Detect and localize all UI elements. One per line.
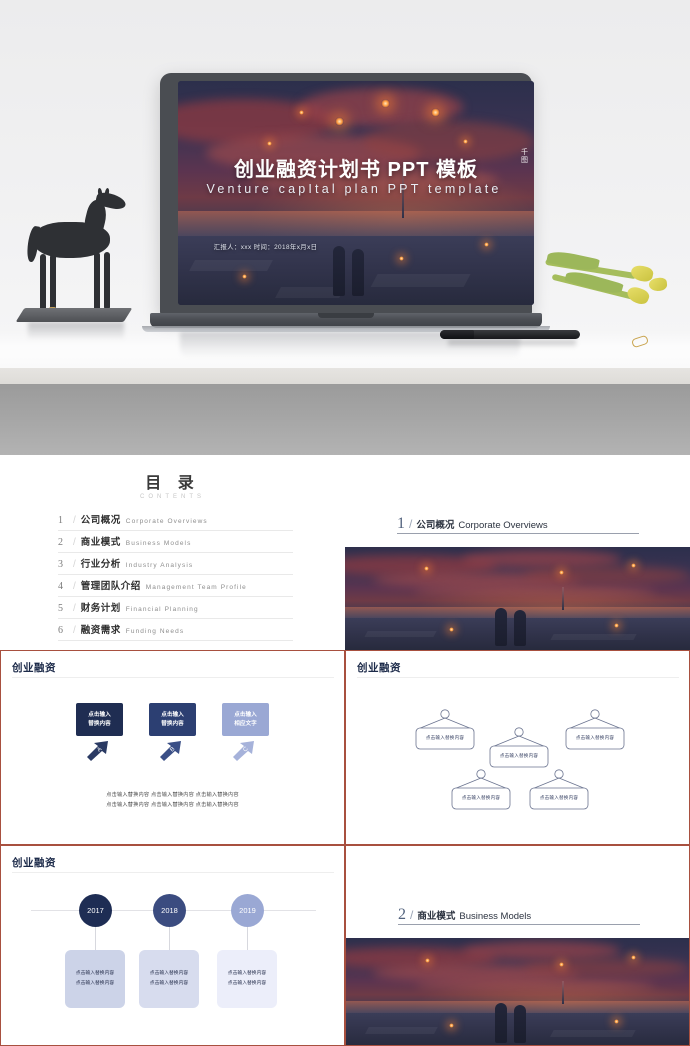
section-label: 2 / 商业模式 Business Models — [398, 906, 531, 924]
contents-item-number: 5 — [58, 603, 68, 614]
boxes-row: 点击输入 替换内容 A — [1, 703, 344, 761]
contents-item-label-en: Funding Needs — [126, 628, 184, 635]
hanging-sign-icon — [482, 727, 556, 771]
tulip-bud — [648, 277, 667, 292]
contents-item[interactable]: 3 / 行业分析 Industry Analysis — [58, 553, 293, 575]
hanging-sign[interactable]: 点击输入替换内容 — [558, 709, 632, 753]
timeline-card[interactable]: 点击输入替换内容 点击输入替换内容 — [65, 950, 125, 1008]
slash-separator-icon: / — [73, 603, 76, 614]
contents-item-label-en: Corporate Overviews — [126, 518, 208, 525]
box-item[interactable]: 点击输入 替换内容 B — [149, 703, 196, 761]
title-slide-heading: 创业融资计划书 PPT 模板 — [178, 153, 534, 182]
contents-item-number: 2 — [58, 537, 68, 548]
pen-reflection — [448, 340, 576, 348]
slide-title: 创业融资 — [357, 660, 401, 675]
hanging-sign-icon — [558, 709, 632, 753]
contents-item-number: 3 — [58, 559, 68, 570]
boxes-slide: 创业融资 点击输入 替换内容 A — [1, 651, 344, 844]
hero-desk-edge — [0, 368, 690, 384]
horse-leg — [50, 254, 56, 310]
arrow-up-icon: C — [222, 739, 269, 761]
box-item[interactable]: 点击输入 相应文字 C — [222, 703, 269, 761]
contents-item-label-cn: 管理团队介绍 — [81, 578, 141, 592]
timeline-card-line-2: 点击输入替换内容 — [76, 979, 114, 989]
contents-header: 目 录 CONTENTS — [0, 455, 345, 500]
hero-laptop-mockup: 创业融资计划书 PPT 模板 Venture capItal plan PPT … — [0, 0, 690, 455]
arrow-up-icon-svg: C — [230, 739, 260, 761]
contents-item[interactable]: 6 / 融资需求 Funding Needs — [58, 619, 293, 641]
hanging-sign-text: 点击输入替换内容 — [444, 795, 518, 801]
section-slide-1: 1 / 公司概况 Corporate Overviews — [345, 455, 690, 650]
contents-item-label-cn: 公司概况 — [81, 512, 121, 526]
contents-item-label-cn: 财务计划 — [81, 600, 121, 614]
section-title-en: Business Models — [459, 911, 531, 922]
timeline-node[interactable]: 2017 — [79, 894, 112, 927]
contents-item-label-cn: 商业模式 — [81, 534, 121, 548]
contents-item[interactable]: 1 / 公司概况 Corporate Overviews — [58, 509, 293, 531]
section-label: 1 / 公司概况 Corporate Overviews — [397, 515, 548, 533]
contents-item[interactable]: 5 / 财务计划 Financial Planning — [58, 597, 293, 619]
hanging-signs-group: 点击输入替换内容 点击输入替换内容 — [346, 691, 689, 841]
box-card[interactable]: 点击输入 替换内容 — [76, 703, 123, 736]
timeline-card[interactable]: 点击输入替换内容 点击输入替换内容 — [139, 950, 199, 1008]
title-slide-presenter-meta: 汇报人：xxx 时间：2018年x月x日 — [214, 242, 318, 251]
box-text-line-1: 点击输入 — [234, 711, 256, 719]
contents-item-label-en: Industry Analysis — [126, 562, 193, 569]
section-image — [346, 938, 689, 1045]
hanging-sign-text: 点击输入替换内容 — [482, 753, 556, 759]
laptop-lid: 创业融资计划书 PPT 模板 Venture capItal plan PPT … — [160, 73, 532, 316]
section-artwork — [346, 938, 689, 1045]
thumbnail-row: 目 录 CONTENTS 1 / 公司概况 Corporate Overview… — [0, 455, 690, 650]
slide-thumbnail-grid: 目 录 CONTENTS 1 / 公司概况 Corporate Overview… — [0, 455, 690, 1046]
timeline-year: 2017 — [87, 906, 104, 915]
timeline-card-line-1: 点击输入替换内容 — [150, 969, 188, 979]
timeline-node[interactable]: 2018 — [153, 894, 186, 927]
contents-item[interactable]: 4 / 管理团队介绍 Management Team Profile — [58, 575, 293, 597]
slash-separator-icon: / — [409, 517, 412, 531]
slash-separator-icon: / — [73, 515, 76, 526]
artwork-figure — [333, 246, 345, 296]
hanging-signs-slide: 创业融资 点击输入替换内容 — [346, 651, 689, 844]
contents-item-label-en: Business Models — [126, 540, 192, 547]
contents-item-label-cn: 融资需求 — [81, 622, 121, 636]
horse-ear-left — [97, 188, 102, 197]
timeline-node[interactable]: 2019 — [231, 894, 264, 927]
hanging-sign-text: 点击输入替换内容 — [522, 795, 596, 801]
hanging-sign[interactable]: 点击输入替换内容 — [522, 769, 596, 813]
tulip-leaf — [546, 249, 600, 274]
slide-title-divider — [12, 872, 334, 873]
section-title-cn: 商业模式 — [417, 908, 455, 922]
hanging-sign-text: 点击输入替换内容 — [558, 735, 632, 741]
section-title-cn: 公司概况 — [416, 517, 454, 531]
box-text-line-1: 点击输入 — [161, 711, 183, 719]
slide-title: 创业融资 — [12, 660, 56, 675]
hanging-sign-icon — [408, 709, 482, 753]
horse-statue-base — [16, 308, 133, 322]
horse-reflection — [28, 322, 124, 340]
boxes-caption-line-2: 点击输入替换内容 点击输入替换内容 点击输入替换内容 — [1, 801, 344, 811]
contents-item-number: 6 — [58, 625, 68, 636]
timeline-card-line-1: 点击输入替换内容 — [76, 969, 114, 979]
thumbnail-row: 创业融资 点击输入 替换内容 A — [0, 650, 690, 845]
slide-title-divider — [357, 677, 679, 678]
contents-slide: 目 录 CONTENTS 1 / 公司概况 Corporate Overview… — [0, 455, 345, 650]
contents-item-label-cn: 行业分析 — [81, 556, 121, 570]
ppt-template-preview-page: 创业融资计划书 PPT 模板 Venture capItal plan PPT … — [0, 0, 690, 1046]
thumbnail-row: 创业融资 2017 点击输入替换内容 点击输入替换内容 — [0, 845, 690, 1046]
watermark-line-2: 图 — [521, 157, 528, 165]
timeline-card-line-2: 点击输入替换内容 — [228, 979, 266, 989]
tulip-flowers — [545, 240, 690, 325]
timeline-stem — [169, 927, 170, 951]
box-text-line-2: 相应文字 — [234, 720, 256, 728]
contents-item-label-en: Management Team Profile — [146, 584, 247, 591]
hanging-sign-text: 点击输入替换内容 — [408, 735, 482, 741]
laptop-screen[interactable]: 创业融资计划书 PPT 模板 Venture capItal plan PPT … — [178, 81, 534, 305]
timeline-card-line-1: 点击输入替换内容 — [228, 969, 266, 979]
tulip-bud — [625, 284, 651, 306]
title-slide-subheading: Venture capItal plan PPT template — [206, 180, 505, 198]
contents-item-number: 4 — [58, 581, 68, 592]
slide-thumbnail-contents[interactable]: 目 录 CONTENTS 1 / 公司概况 Corporate Overview… — [0, 455, 345, 650]
hanging-sign-icon — [522, 769, 596, 813]
arrow-up-icon-svg: A — [84, 739, 114, 761]
section-underline — [397, 533, 639, 534]
box-card[interactable]: 点击输入 相应文字 — [222, 703, 269, 736]
timeline-year: 2019 — [239, 906, 256, 915]
horse-leg — [104, 252, 110, 310]
arrow-up-icon-svg: B — [157, 739, 187, 761]
section-number: 1 — [397, 515, 405, 533]
slide-title: 创业融资 — [12, 855, 56, 870]
boxes-caption-line-1: 点击输入替换内容 点击输入替换内容 点击输入替换内容 — [1, 791, 344, 801]
hanging-sign[interactable]: 点击输入替换内容 — [408, 709, 482, 753]
section-title-en: Corporate Overviews — [458, 520, 547, 531]
contents-title-cn: 目 录 — [0, 469, 345, 493]
timeline-group: 2017 点击输入替换内容 点击输入替换内容 2018 点击输入替换内容 — [1, 888, 344, 1038]
horse-statue — [20, 190, 130, 340]
slide-thumbnail-section-1[interactable]: 1 / 公司概况 Corporate Overviews — [345, 455, 690, 650]
section-image — [345, 547, 690, 650]
timeline-card-line-2: 点击输入替换内容 — [150, 979, 188, 989]
slash-separator-icon: / — [73, 559, 76, 570]
laptop-notch — [318, 313, 374, 318]
hero-desk-surface — [0, 384, 690, 455]
slide-thumbnail-section-2[interactable]: 2 / 商业模式 Business Models — [345, 845, 690, 1046]
timeline-year: 2018 — [161, 906, 178, 915]
section-number: 2 — [398, 906, 406, 924]
slash-separator-icon: / — [73, 581, 76, 592]
contents-item-label-en: Financial Planning — [126, 606, 199, 613]
section-underline — [398, 924, 640, 925]
boxes-caption: 点击输入替换内容 点击输入替换内容 点击输入替换内容 点击输入替换内容 点击输入… — [1, 791, 344, 811]
watermark-badge: 千 图 — [521, 149, 528, 164]
timeline-stem — [95, 927, 96, 951]
arrow-up-icon: A — [76, 739, 123, 761]
box-text-line-2: 替换内容 — [161, 720, 183, 728]
arrow-up-icon: B — [149, 739, 196, 761]
section-slide-2: 2 / 商业模式 Business Models — [346, 846, 689, 1045]
horse-leg — [40, 254, 46, 312]
section-artwork — [345, 547, 690, 650]
contents-item-number: 1 — [58, 515, 68, 526]
slash-separator-icon: / — [73, 537, 76, 548]
contents-item[interactable]: 2 / 商业模式 Business Models — [58, 531, 293, 553]
artwork-figure — [352, 249, 364, 296]
slash-separator-icon: / — [73, 625, 76, 636]
slide-thumbnail-timeline[interactable]: 创业融资 2017 点击输入替换内容 点击输入替换内容 — [0, 845, 345, 1046]
box-text-line-1: 点击输入 — [88, 711, 110, 719]
slide-title-divider — [12, 677, 334, 678]
horse-leg — [94, 252, 100, 312]
box-text-line-2: 替换内容 — [88, 720, 110, 728]
slide-thumbnail-hanging-signs[interactable]: 创业融资 点击输入替换内容 — [345, 650, 690, 845]
hanging-sign[interactable]: 点击输入替换内容 — [482, 727, 556, 771]
slide-thumbnail-boxes[interactable]: 创业融资 点击输入 替换内容 A — [0, 650, 345, 845]
contents-title-en: CONTENTS — [0, 494, 345, 500]
timeline-slide: 创业融资 2017 点击输入替换内容 点击输入替换内容 — [1, 846, 344, 1045]
hanging-sign[interactable]: 点击输入替换内容 — [444, 769, 518, 813]
box-item[interactable]: 点击输入 替换内容 A — [76, 703, 123, 761]
hanging-sign-icon — [444, 769, 518, 813]
contents-list: 1 / 公司概况 Corporate Overviews 2 / 商业模式 Bu… — [58, 509, 293, 641]
watermark-line-1: 千 — [521, 149, 528, 157]
slash-separator-icon: / — [410, 908, 413, 922]
pen-cap — [440, 330, 474, 339]
timeline-card[interactable]: 点击输入替换内容 点击输入替换内容 — [217, 950, 277, 1008]
laptop-device: 创业融资计划书 PPT 模板 Venture capItal plan PPT … — [150, 73, 542, 338]
box-card[interactable]: 点击输入 替换内容 — [149, 703, 196, 736]
timeline-stem — [247, 927, 248, 951]
